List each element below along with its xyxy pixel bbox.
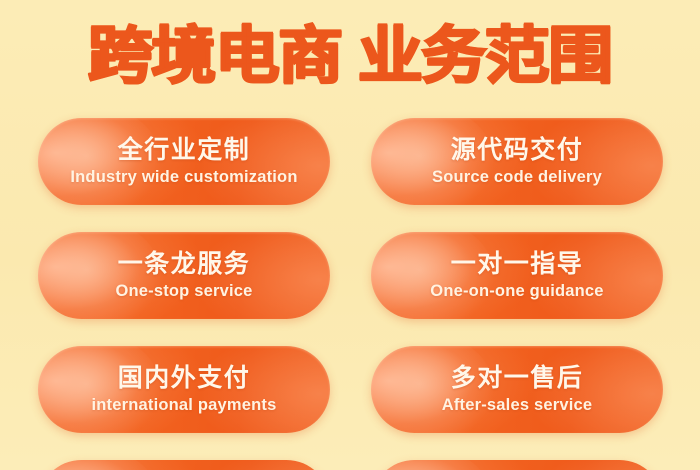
service-pill-partial-left[interactable]	[38, 460, 330, 470]
page-title-segment-1: 跨境电商	[88, 25, 342, 87]
page-title-segment-2: 业务范围	[358, 25, 612, 87]
service-pill-title-cn: 国内外支付	[118, 364, 251, 392]
service-pill-title-en: international payments	[91, 396, 276, 414]
service-pill-title-cn: 全行业定制	[118, 136, 251, 164]
service-row: 国内外支付 international payments 多对一售后 After…	[0, 346, 700, 433]
service-pill-title-en: Source code delivery	[432, 168, 602, 186]
service-pill-industry-wide-customization[interactable]: 全行业定制 Industry wide customization	[38, 118, 330, 205]
service-pill-source-code-delivery[interactable]: 源代码交付 Source code delivery	[371, 118, 663, 205]
service-pill-title-en: One-on-one guidance	[430, 282, 603, 300]
service-pill-title-cn: 一条龙服务	[118, 250, 251, 278]
page-title: 跨境电商 业务范围	[0, 6, 700, 106]
poster-canvas: 跨境电商 业务范围 全行业定制 Industry wide customizat…	[0, 0, 700, 470]
service-pill-title-en: One-stop service	[115, 282, 252, 300]
service-grid: 全行业定制 Industry wide customization 源代码交付 …	[0, 118, 700, 470]
service-pill-title-cn: 一对一指导	[451, 250, 584, 278]
service-pill-international-payments[interactable]: 国内外支付 international payments	[38, 346, 330, 433]
service-pill-title-cn: 源代码交付	[451, 136, 584, 164]
service-pill-partial-right[interactable]	[371, 460, 663, 470]
service-pill-title-en: After-sales service	[442, 396, 593, 414]
service-pill-title-en: Industry wide customization	[70, 168, 297, 186]
service-row-partial	[0, 460, 700, 470]
service-pill-one-on-one-guidance[interactable]: 一对一指导 One-on-one guidance	[371, 232, 663, 319]
service-row: 一条龙服务 One-stop service 一对一指导 One-on-one …	[0, 232, 700, 319]
service-row: 全行业定制 Industry wide customization 源代码交付 …	[0, 118, 700, 205]
service-pill-one-stop-service[interactable]: 一条龙服务 One-stop service	[38, 232, 330, 319]
service-pill-after-sales-service[interactable]: 多对一售后 After-sales service	[371, 346, 663, 433]
service-pill-title-cn: 多对一售后	[451, 364, 584, 392]
